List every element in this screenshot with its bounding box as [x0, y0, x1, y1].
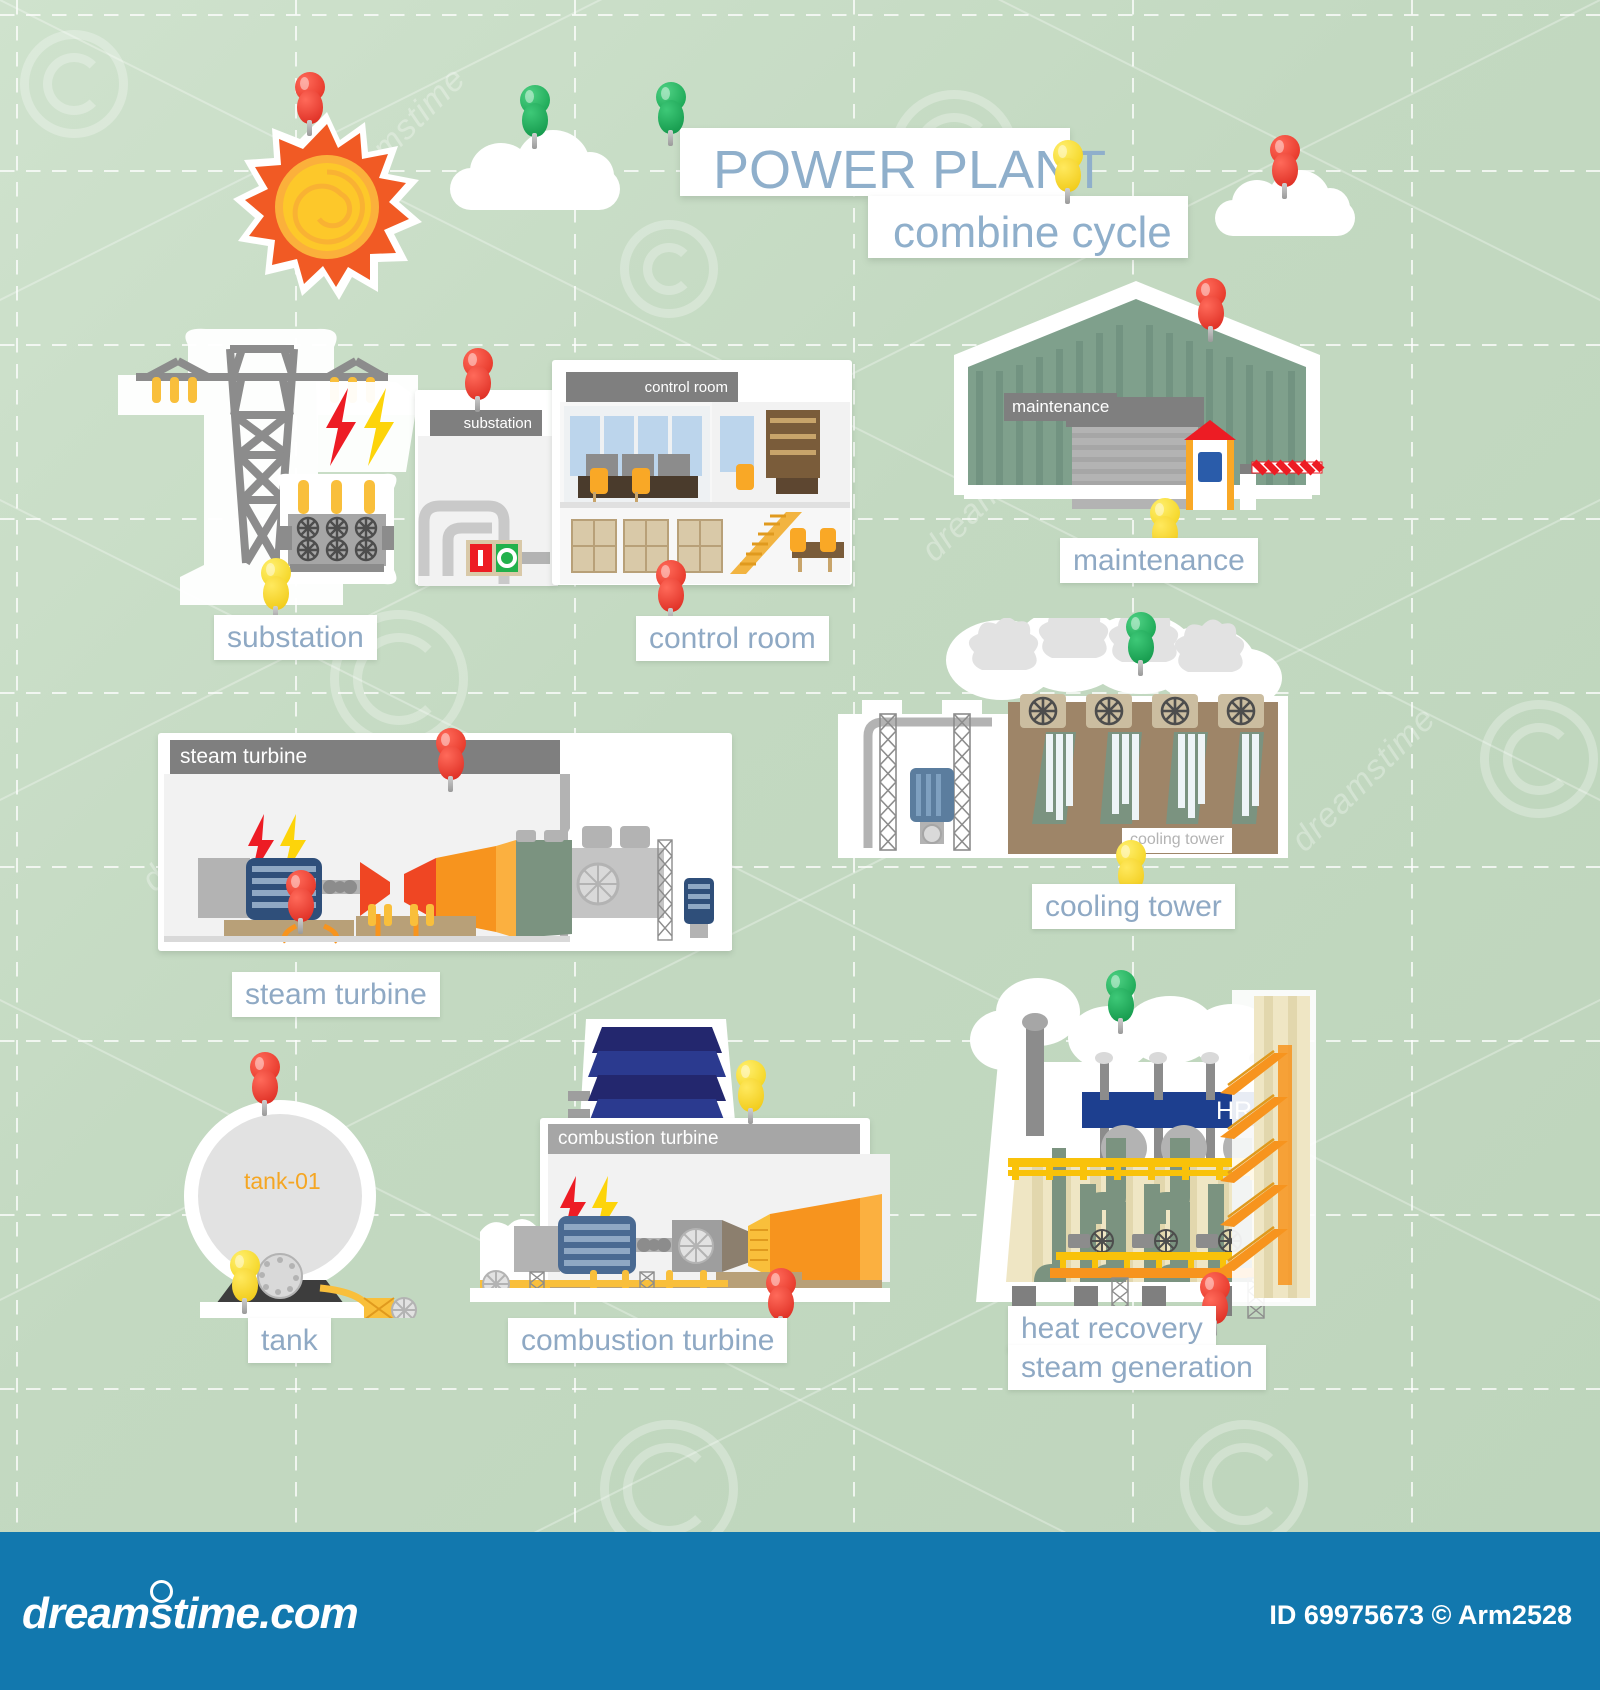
page-subtitle: combine cycle: [880, 202, 1185, 264]
caption-tank: tank: [248, 1318, 331, 1363]
dreamstime-logo[interactable]: dreamstime.com: [22, 1589, 358, 1639]
pin-tank[interactable]: [222, 1250, 268, 1322]
pin-title-right[interactable]: [1045, 140, 1091, 212]
badge-combustion-turbine: combustion turbine: [548, 1124, 860, 1154]
watermark-spiral: [600, 1420, 738, 1532]
grid-line-h: [0, 1040, 1600, 1042]
caption-control-room: control room: [636, 616, 829, 661]
substation-piping: [418, 436, 558, 586]
watermark-spiral: [1180, 1420, 1308, 1532]
watermark-spiral: [1480, 700, 1598, 818]
badge-steam-turbine: steam turbine: [170, 740, 560, 774]
pin-steam-turbine-top[interactable]: [428, 728, 474, 800]
guard-house-icon: [1180, 418, 1340, 518]
grid-line-v: [16, 0, 18, 1532]
pin-maintenance-roof[interactable]: [1188, 278, 1234, 350]
image-credit: ID 69975673 © Arm2528: [1269, 1600, 1572, 1631]
grid-line-h: [0, 14, 1600, 16]
caption-hrsg-line2: steam generation: [1008, 1345, 1266, 1390]
grid-line-v: [1411, 0, 1413, 1532]
grid-line-h: [0, 1388, 1600, 1390]
pin-cloud-2[interactable]: [1262, 135, 1308, 207]
control-room-interior: [560, 402, 850, 584]
caption-combustion-turbine: combustion turbine: [508, 1318, 787, 1363]
grid-line-h: [0, 692, 1600, 694]
pin-cloud-1[interactable]: [512, 85, 558, 157]
pin-substation-building[interactable]: [455, 348, 501, 420]
pin-hrsg-steam[interactable]: [1098, 970, 1144, 1042]
pin-sun[interactable]: [287, 72, 333, 144]
steam-turbine-icon: [164, 774, 744, 952]
watermark-spiral: [620, 220, 718, 318]
pin-tank-top[interactable]: [242, 1052, 288, 1124]
badge-maintenance: maintenance: [1004, 393, 1117, 421]
combustion-turbine-icon: [470, 1154, 890, 1304]
watermark-text: dreamstime: [1284, 699, 1444, 859]
caption-cooling-tower: cooling tower: [1032, 884, 1235, 929]
caption-maintenance: maintenance: [1060, 538, 1258, 583]
hrsg-staircase-icon: [1212, 1015, 1322, 1305]
badge-tank: tank-01: [244, 1168, 321, 1195]
pin-cooling-tower-steam[interactable]: [1118, 612, 1164, 684]
watermark-spiral: [20, 30, 128, 138]
storage-tank-icon: [170, 1098, 420, 1318]
caption-substation: substation: [214, 615, 377, 660]
pin-steam-turbine[interactable]: [278, 870, 324, 942]
badge-control-room: control room: [566, 372, 738, 402]
logo-ring-icon: [150, 1580, 173, 1603]
illustration-canvas: dreamstime dreamstime dreamstime dreamst…: [0, 0, 1600, 1532]
footer-bar: dreamstime.com ID 69975673 © Arm2528: [0, 1532, 1600, 1690]
caption-steam-turbine: steam turbine: [232, 972, 440, 1017]
pin-combustion-turbine-top[interactable]: [728, 1060, 774, 1132]
pin-title-left[interactable]: [648, 82, 694, 154]
